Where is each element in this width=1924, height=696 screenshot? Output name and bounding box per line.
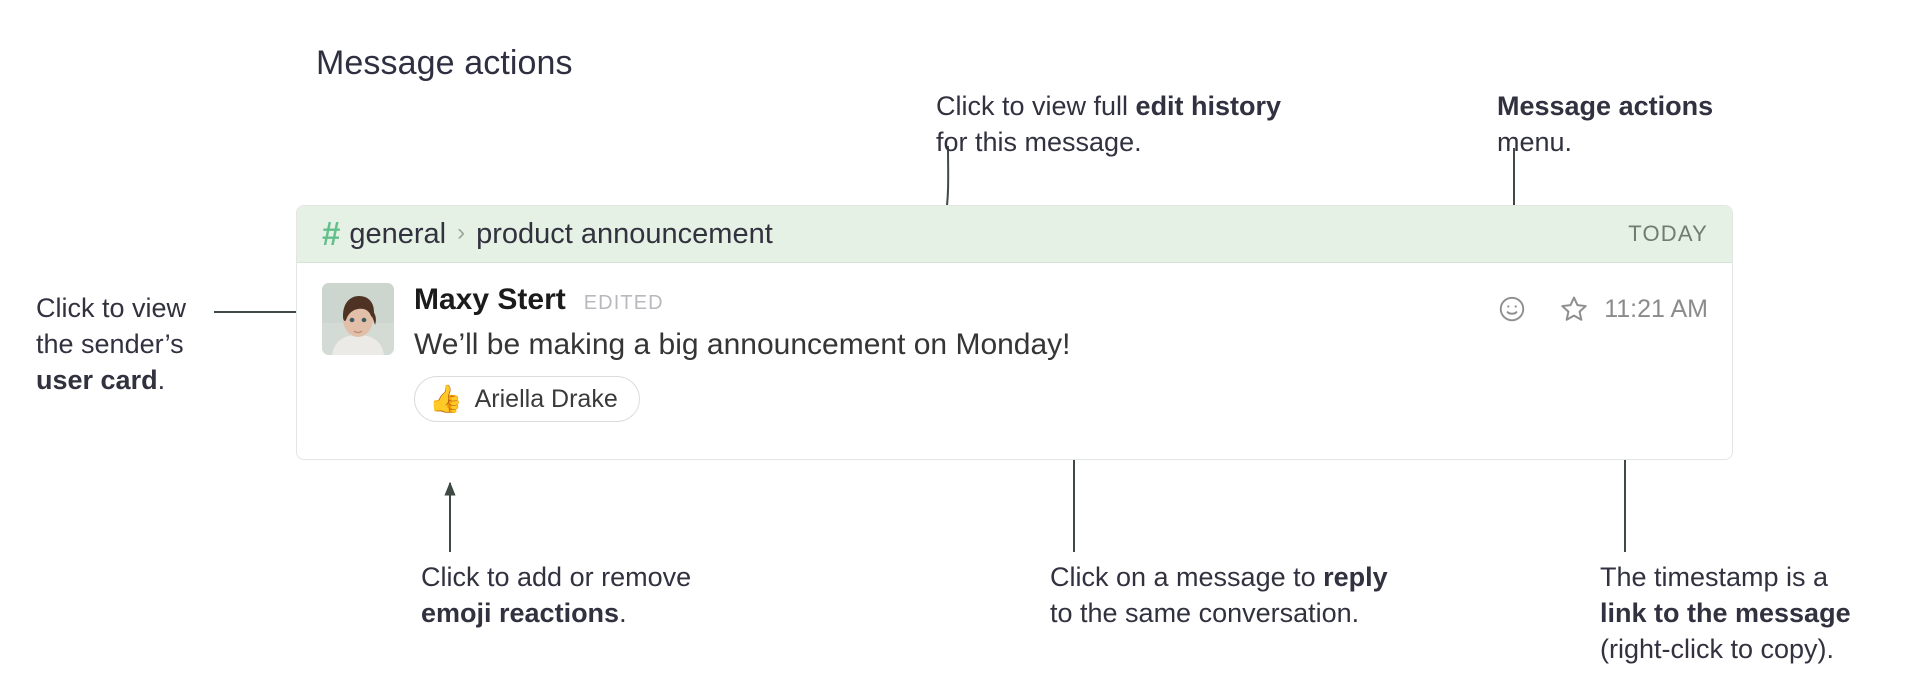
emoji-smiley-icon[interactable] <box>1494 291 1530 327</box>
annotation-text: Click to view full <box>936 91 1136 121</box>
edited-badge[interactable]: EDITED <box>584 292 664 315</box>
reactions-row: 👍 Ariella Drake <box>414 376 1708 422</box>
avatar[interactable] <box>322 283 394 355</box>
annotation-emphasis: user card <box>36 365 158 395</box>
annotation-emphasis: link to the message <box>1600 598 1851 628</box>
annotation-text: to the same conversation. <box>1050 595 1388 631</box>
reaction-pill[interactable]: 👍 Ariella Drake <box>414 376 640 422</box>
annotation-emoji-reactions: Click to add or remove emoji reactions. <box>421 559 691 631</box>
channel-name[interactable]: general <box>349 218 446 251</box>
message-row[interactable]: Maxy Stert EDITED We’ll be making a big … <box>297 263 1732 422</box>
thumbs-up-emoji: 👍 <box>429 386 463 413</box>
annotation-edit-history: Click to view full edit history for this… <box>936 88 1281 160</box>
timestamp-link[interactable]: 11:21 AM <box>1604 295 1708 324</box>
annotation-text: . <box>158 365 166 395</box>
page-title: Message actions <box>316 44 573 83</box>
annotation-text: (right-click to copy). <box>1600 631 1851 667</box>
annotation-text: menu. <box>1497 124 1713 160</box>
annotation-text: Click to add or remove <box>421 559 691 595</box>
annotation-emphasis: reply <box>1323 562 1388 592</box>
annotation-text: for this message. <box>936 124 1281 160</box>
star-icon[interactable] <box>1556 291 1592 327</box>
reaction-user-label: Ariella Drake <box>475 385 618 414</box>
annotation-emphasis: edit history <box>1136 91 1282 121</box>
kebab-menu-icon[interactable] <box>1530 291 1556 327</box>
annotation-actions-menu: Message actions menu. <box>1497 88 1713 160</box>
annotation-reply: Click on a message to reply to the same … <box>1050 559 1388 631</box>
annotation-text: the sender’s <box>36 326 186 362</box>
topic-name[interactable]: product announcement <box>476 218 773 251</box>
date-label: TODAY <box>1628 221 1708 247</box>
annotation-text: The timestamp is a <box>1600 559 1851 595</box>
message-actions-bar: 11:21 AM <box>1494 291 1708 327</box>
channel-header: # general › product announcement TODAY <box>297 206 1732 263</box>
annotation-emphasis: Message actions <box>1497 91 1713 121</box>
message-text[interactable]: We’ll be making a big announcement on Mo… <box>414 328 1708 362</box>
annotation-user-card: Click to view the sender’s user card. <box>36 290 186 398</box>
hash-icon: # <box>322 217 340 250</box>
chevron-right-icon: › <box>457 219 465 247</box>
annotation-emphasis: emoji reactions <box>421 598 619 628</box>
annotation-text: . <box>619 598 627 628</box>
annotation-timestamp: The timestamp is a link to the message (… <box>1600 559 1851 667</box>
annotation-text: Click on a message to <box>1050 562 1323 592</box>
message-card: # general › product announcement TODAY M… <box>296 205 1733 460</box>
annotation-text: Click to view <box>36 290 186 326</box>
sender-name[interactable]: Maxy Stert <box>414 283 566 317</box>
